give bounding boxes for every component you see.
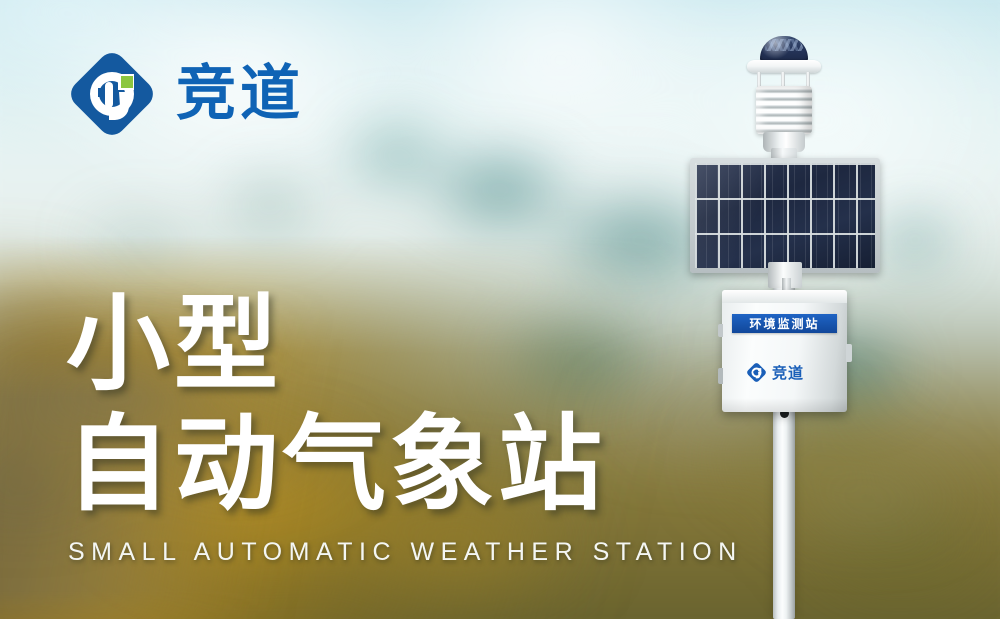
enclosure-hinge-right — [846, 344, 852, 362]
control-enclosure-box: 环境监测站 竞道 — [722, 290, 847, 412]
ultrasonic-weather-sensor — [743, 36, 825, 154]
automatic-weather-station: 环境监测站 竞道 — [660, 0, 910, 619]
enclosure-banner-text: 环境监测站 — [749, 315, 819, 332]
enclosure-lid — [722, 290, 847, 303]
enclosure-bottom-shading — [722, 398, 847, 412]
enclosure-latch-left-upper — [718, 324, 723, 337]
solar-panel-cells — [695, 163, 875, 268]
enclosure-latch-left-lower — [718, 368, 723, 384]
subtitle: SMALL AUTOMATIC WEATHER STATION — [68, 538, 743, 567]
enclosure-banner: 环境监测站 — [732, 314, 837, 333]
brand-lockup: 竞道 — [66, 48, 304, 140]
solar-panel — [690, 158, 880, 273]
page-title: 小型 自动气象站 — [66, 292, 606, 516]
jingdao-diamond-logo-icon — [66, 48, 158, 140]
enclosure-logo-icon — [746, 362, 767, 383]
sensor-dome-icon — [760, 36, 808, 63]
headline-line-2: 自动气象站 — [66, 412, 606, 516]
headline-line-1: 小型 — [66, 292, 606, 396]
enclosure-logo-text: 竞道 — [772, 362, 804, 383]
weather-station-poster: 竞道 小型 自动气象站 SMALL AUTOMATIC WEATHER STAT… — [0, 0, 1000, 619]
solar-panel-frame — [690, 158, 880, 273]
brand-name: 竞道 — [176, 64, 304, 124]
enclosure-brand-lockup: 竞道 — [746, 362, 804, 383]
radiation-shield — [756, 86, 812, 134]
